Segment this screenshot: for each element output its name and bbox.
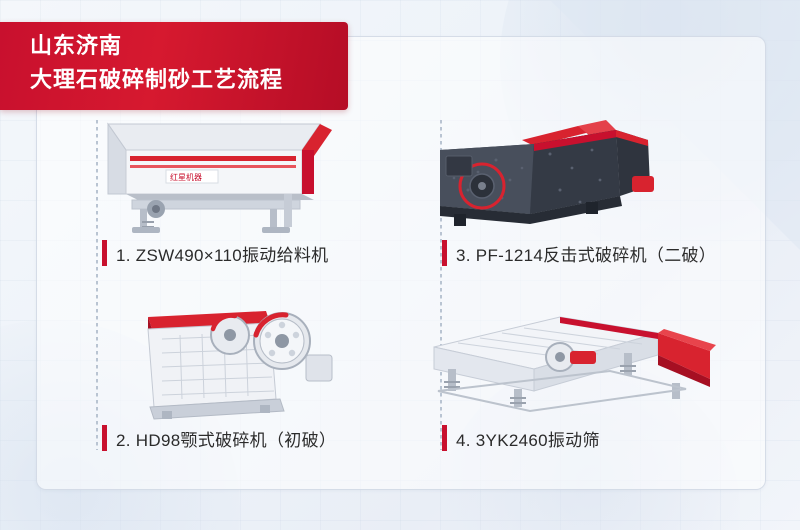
machine-caption-1: 1. ZSW490×110振动给料机: [102, 238, 328, 268]
machine-cell-2: 2. HD98颚式破碎机（初破）: [70, 295, 410, 480]
machine-grid: 红星机器 1. ZSW490×11: [70, 110, 750, 480]
caption-text-3: 3. PF-1214反击式破碎机（二破）: [456, 241, 716, 266]
caption-accent-bar: [102, 240, 107, 266]
machine-caption-3: 3. PF-1214反击式破碎机（二破）: [442, 238, 716, 268]
caption-text-4: 4. 3YK2460振动筛: [456, 426, 600, 451]
title-line-1: 山东济南: [30, 31, 348, 61]
title-banner: 山东济南 大理石破碎制砂工艺流程: [0, 22, 348, 110]
vibrating-feeder-illustration: 红星机器: [70, 110, 410, 240]
page-root: 山东济南 大理石破碎制砂工艺流程: [0, 0, 800, 530]
title-line-2: 大理石破碎制砂工艺流程: [30, 64, 348, 96]
caption-text-1: 1. ZSW490×110振动给料机: [116, 241, 328, 266]
vibrating-screen-illustration: [410, 295, 750, 425]
caption-accent-bar: [102, 425, 107, 451]
machine-cell-1: 红星机器 1. ZSW490×11: [70, 110, 410, 295]
machine-caption-4: 4. 3YK2460振动筛: [442, 423, 600, 453]
machine-cell-4: 4. 3YK2460振动筛: [410, 295, 750, 480]
svg-text:红星机器: 红星机器: [170, 172, 202, 182]
jaw-crusher-illustration: [70, 295, 410, 425]
caption-accent-bar: [442, 240, 447, 266]
impact-crusher-illustration: [410, 110, 750, 240]
caption-text-2: 2. HD98颚式破碎机（初破）: [116, 426, 336, 451]
machine-caption-2: 2. HD98颚式破碎机（初破）: [102, 423, 336, 453]
machine-cell-3: 3. PF-1214反击式破碎机（二破）: [410, 110, 750, 295]
caption-accent-bar: [442, 425, 447, 451]
